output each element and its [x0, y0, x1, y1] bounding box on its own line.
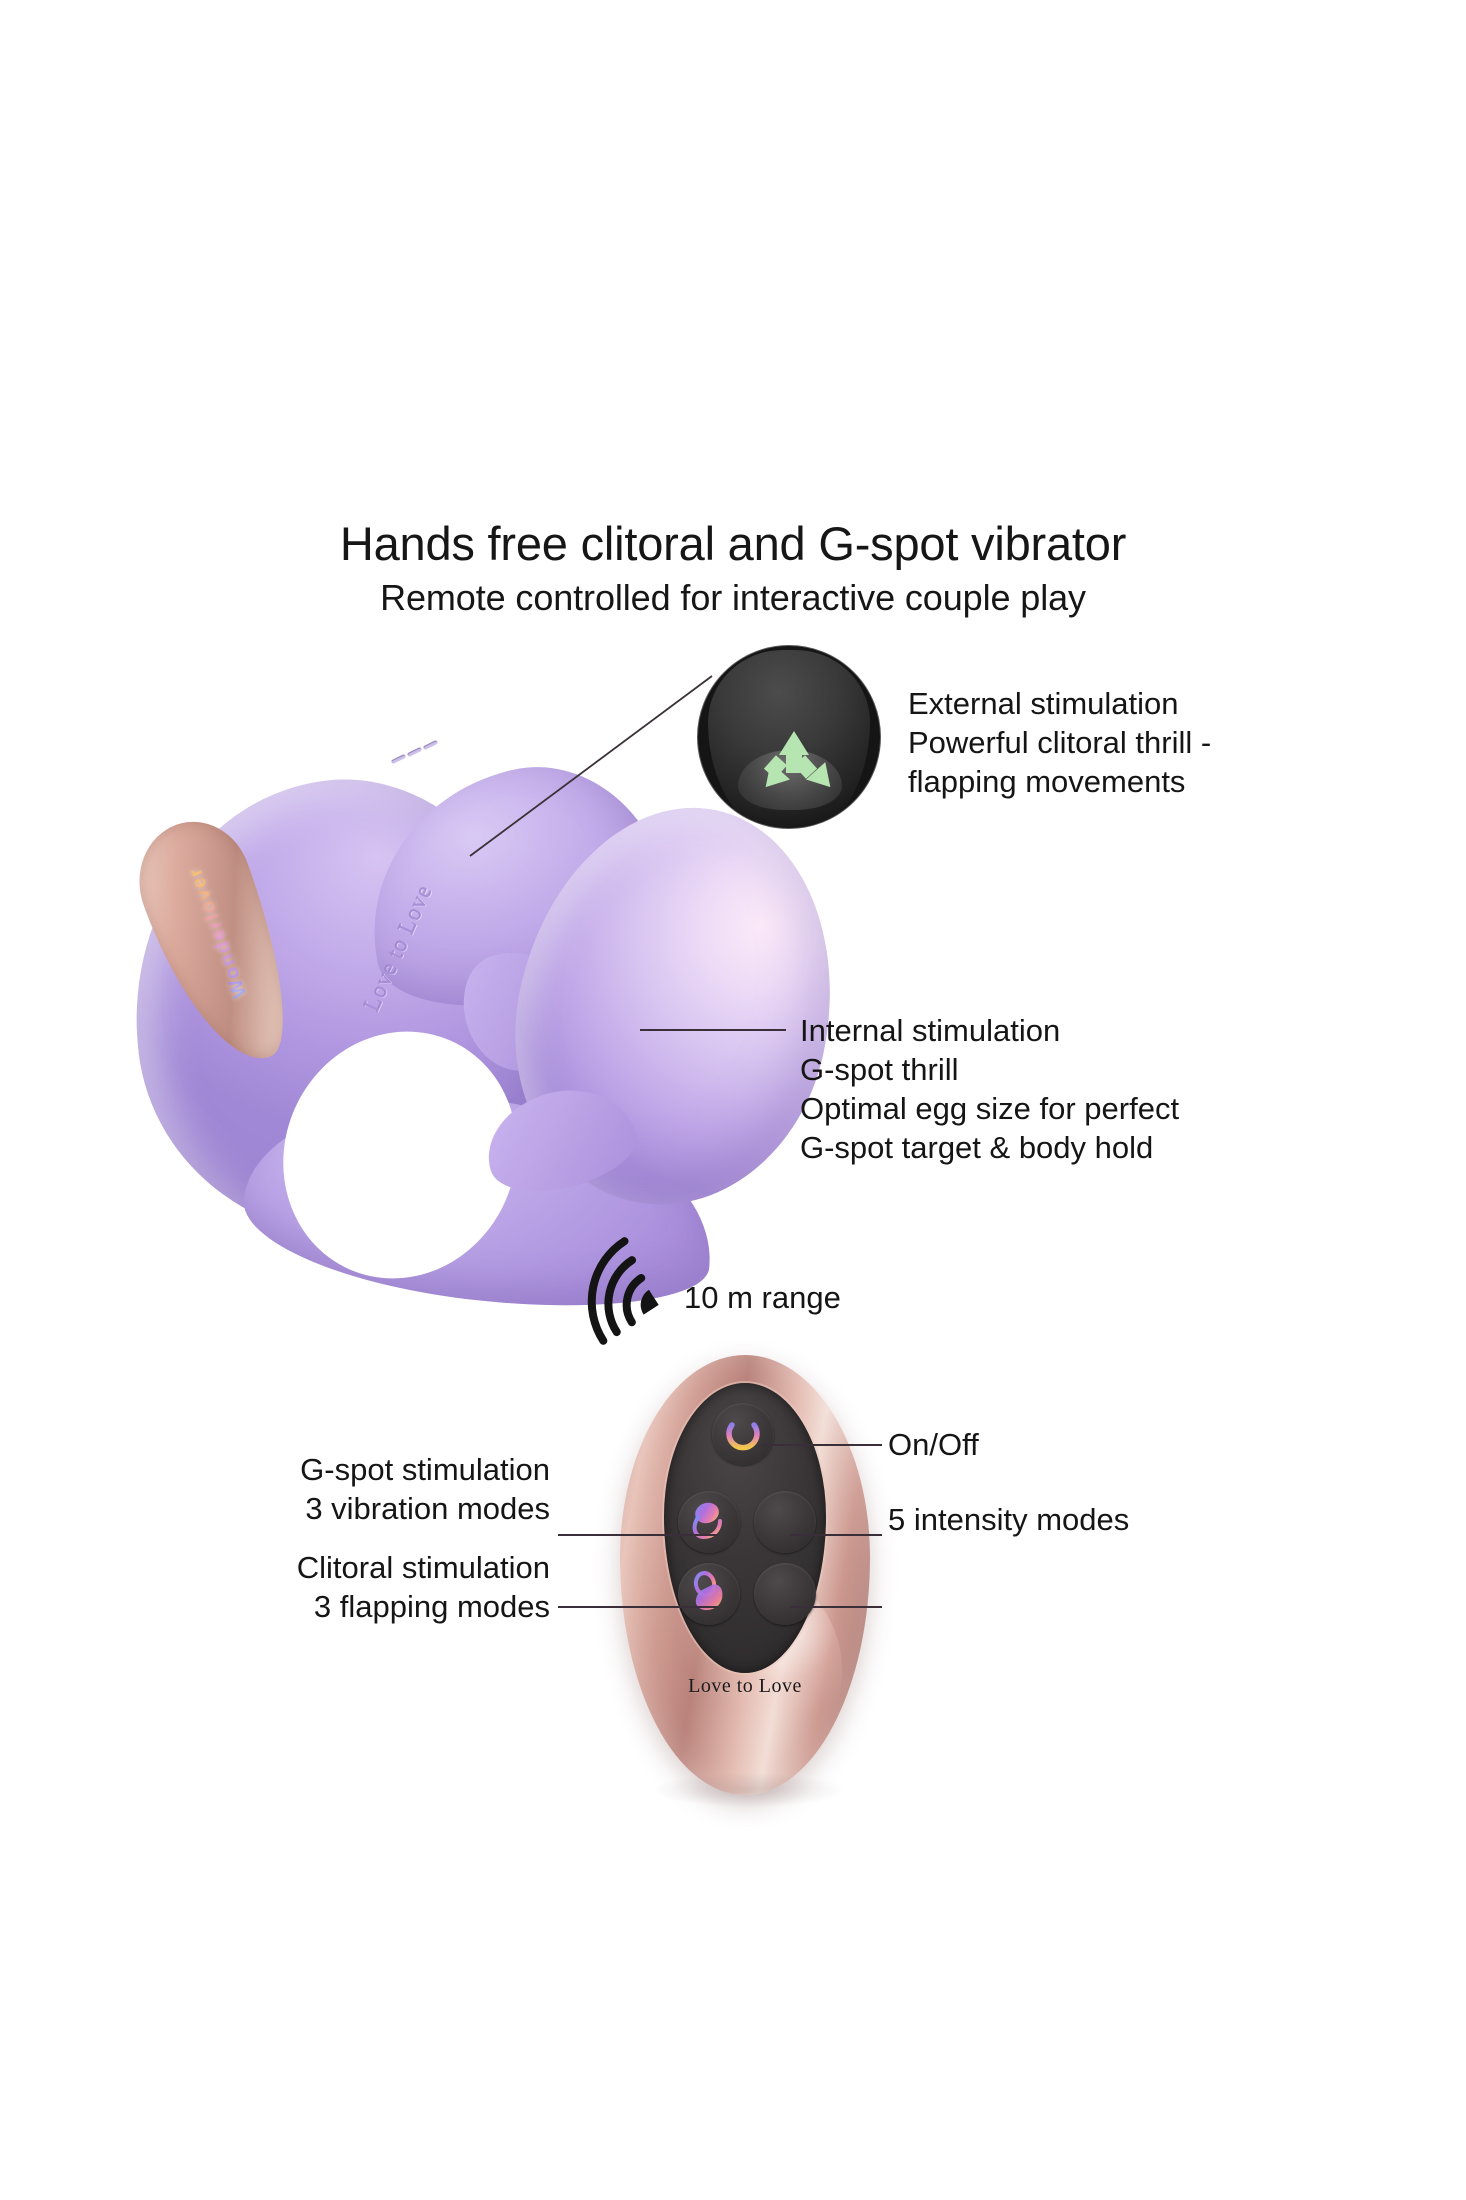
minus-icon: [754, 1563, 816, 1625]
vent-slot-icon: [407, 747, 422, 757]
remote-brand-label: Love to Love: [664, 1675, 826, 1698]
external-stimulation-callout: [697, 645, 881, 829]
vibrator-shape-icon: [678, 1563, 740, 1625]
leader-line-external: [470, 640, 730, 870]
vent-slot-icon: [423, 740, 438, 750]
leader-line-internal: [640, 1029, 786, 1031]
intensity-down-button[interactable]: [754, 1563, 816, 1625]
leader-line-intensity-down: [790, 1606, 882, 1608]
external-stimulation-text: External stimulation Powerful clitoral t…: [908, 684, 1338, 801]
internal-stimulation-text: Internal stimulation G-spot thrill Optim…: [800, 1011, 1320, 1167]
leader-line-gspot: [558, 1534, 718, 1536]
plus-icon: [754, 1491, 816, 1553]
model-name-label: Wonderlover: [175, 839, 261, 1025]
clitoral-mode-button[interactable]: [678, 1563, 740, 1625]
gspot-mode-button[interactable]: [678, 1491, 740, 1553]
vent-slot-icon: [391, 754, 406, 764]
gspot-stimulation-label: G-spot stimulation 3 vibration modes: [160, 1450, 550, 1528]
vibrator-shape-icon: [678, 1491, 740, 1553]
leader-line-intensity-up: [790, 1534, 882, 1536]
remote-drop-shadow: [654, 1773, 844, 1807]
leader-line-clitoral: [558, 1606, 718, 1608]
arrow-up-icon: [779, 731, 809, 755]
power-icon: [712, 1403, 774, 1465]
infographic-canvas: Hands free clitoral and G-spot vibrator …: [0, 0, 1466, 2200]
heading-block: Hands free clitoral and G-spot vibrator …: [0, 515, 1466, 621]
intensity-modes-label: 5 intensity modes: [888, 1500, 1248, 1539]
range-label: 10 m range: [684, 1280, 841, 1316]
page-subtitle: Remote controlled for interactive couple…: [0, 575, 1466, 621]
on-off-label: On/Off: [888, 1425, 1218, 1464]
power-button[interactable]: [712, 1403, 774, 1465]
clitoral-stimulation-label: Clitoral stimulation 3 flapping modes: [160, 1548, 550, 1626]
intensity-up-button[interactable]: [754, 1491, 816, 1553]
remote-control: Love to Love: [620, 1355, 870, 1795]
page-title: Hands free clitoral and G-spot vibrator: [0, 515, 1466, 573]
leader-line-onoff: [762, 1444, 882, 1446]
